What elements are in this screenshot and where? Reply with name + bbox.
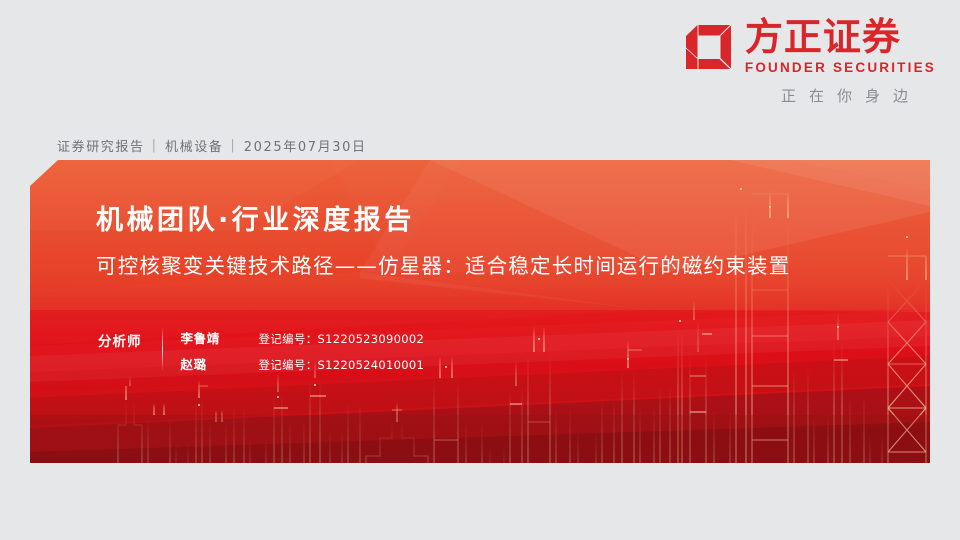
breadcrumb: 证券研究报告 | 机械设备 | 2025年07月30日 xyxy=(57,136,367,155)
brand-logo-block: 方正证券 FOUNDER SECURITIES 正在你身边 xyxy=(685,18,936,106)
banner-title: 机械团队·行业深度报告 xyxy=(96,198,415,237)
brand-name-cn: 方正证券 xyxy=(745,18,901,58)
analyst-registration: 登记编号：S1220523090002 xyxy=(259,331,425,347)
breadcrumb-report-type: 证券研究报告 xyxy=(57,136,145,155)
breadcrumb-separator: | xyxy=(152,138,156,153)
cover-banner: 机械团队·行业深度报告 可控核聚变关键技术路径——仿星器：适合稳定长时间运行的磁… xyxy=(30,160,930,463)
analyst-rows: 李鲁靖 登记编号：S1220523090002 赵璐 登记编号：S1220524… xyxy=(181,328,425,373)
analyst-block: 分析师 李鲁靖 登记编号：S1220523090002 赵璐 登记编号：S122… xyxy=(98,328,424,373)
banner-subtitle: 可控核聚变关键技术路径——仿星器：适合稳定长时间运行的磁约束装置 xyxy=(96,252,796,281)
analyst-name: 赵璐 xyxy=(181,354,259,373)
report-cover-page: 方正证券 FOUNDER SECURITIES 正在你身边 证券研究报告 | 机… xyxy=(0,0,960,540)
brand-tagline: 正在你身边 xyxy=(781,85,934,106)
analyst-row: 赵璐 登记编号：S1220524010001 xyxy=(181,354,425,373)
founder-hexagon-logo-icon xyxy=(685,24,733,70)
breadcrumb-date: 2025年07月30日 xyxy=(244,136,367,155)
analyst-registration: 登记编号：S1220524010001 xyxy=(259,357,425,373)
analyst-label: 分析师 xyxy=(98,328,142,350)
logo-row: 方正证券 FOUNDER SECURITIES xyxy=(685,18,936,76)
breadcrumb-separator: | xyxy=(230,138,234,153)
breadcrumb-sector: 机械设备 xyxy=(165,136,223,155)
brand-name-en: FOUNDER SECURITIES xyxy=(745,59,936,77)
analyst-name: 李鲁靖 xyxy=(181,328,259,347)
page-header: 方正证券 FOUNDER SECURITIES 正在你身边 xyxy=(0,0,960,128)
analyst-divider xyxy=(162,328,163,370)
logo-text-column: 方正证券 FOUNDER SECURITIES xyxy=(745,18,936,76)
analyst-row: 李鲁靖 登记编号：S1220523090002 xyxy=(181,328,425,347)
